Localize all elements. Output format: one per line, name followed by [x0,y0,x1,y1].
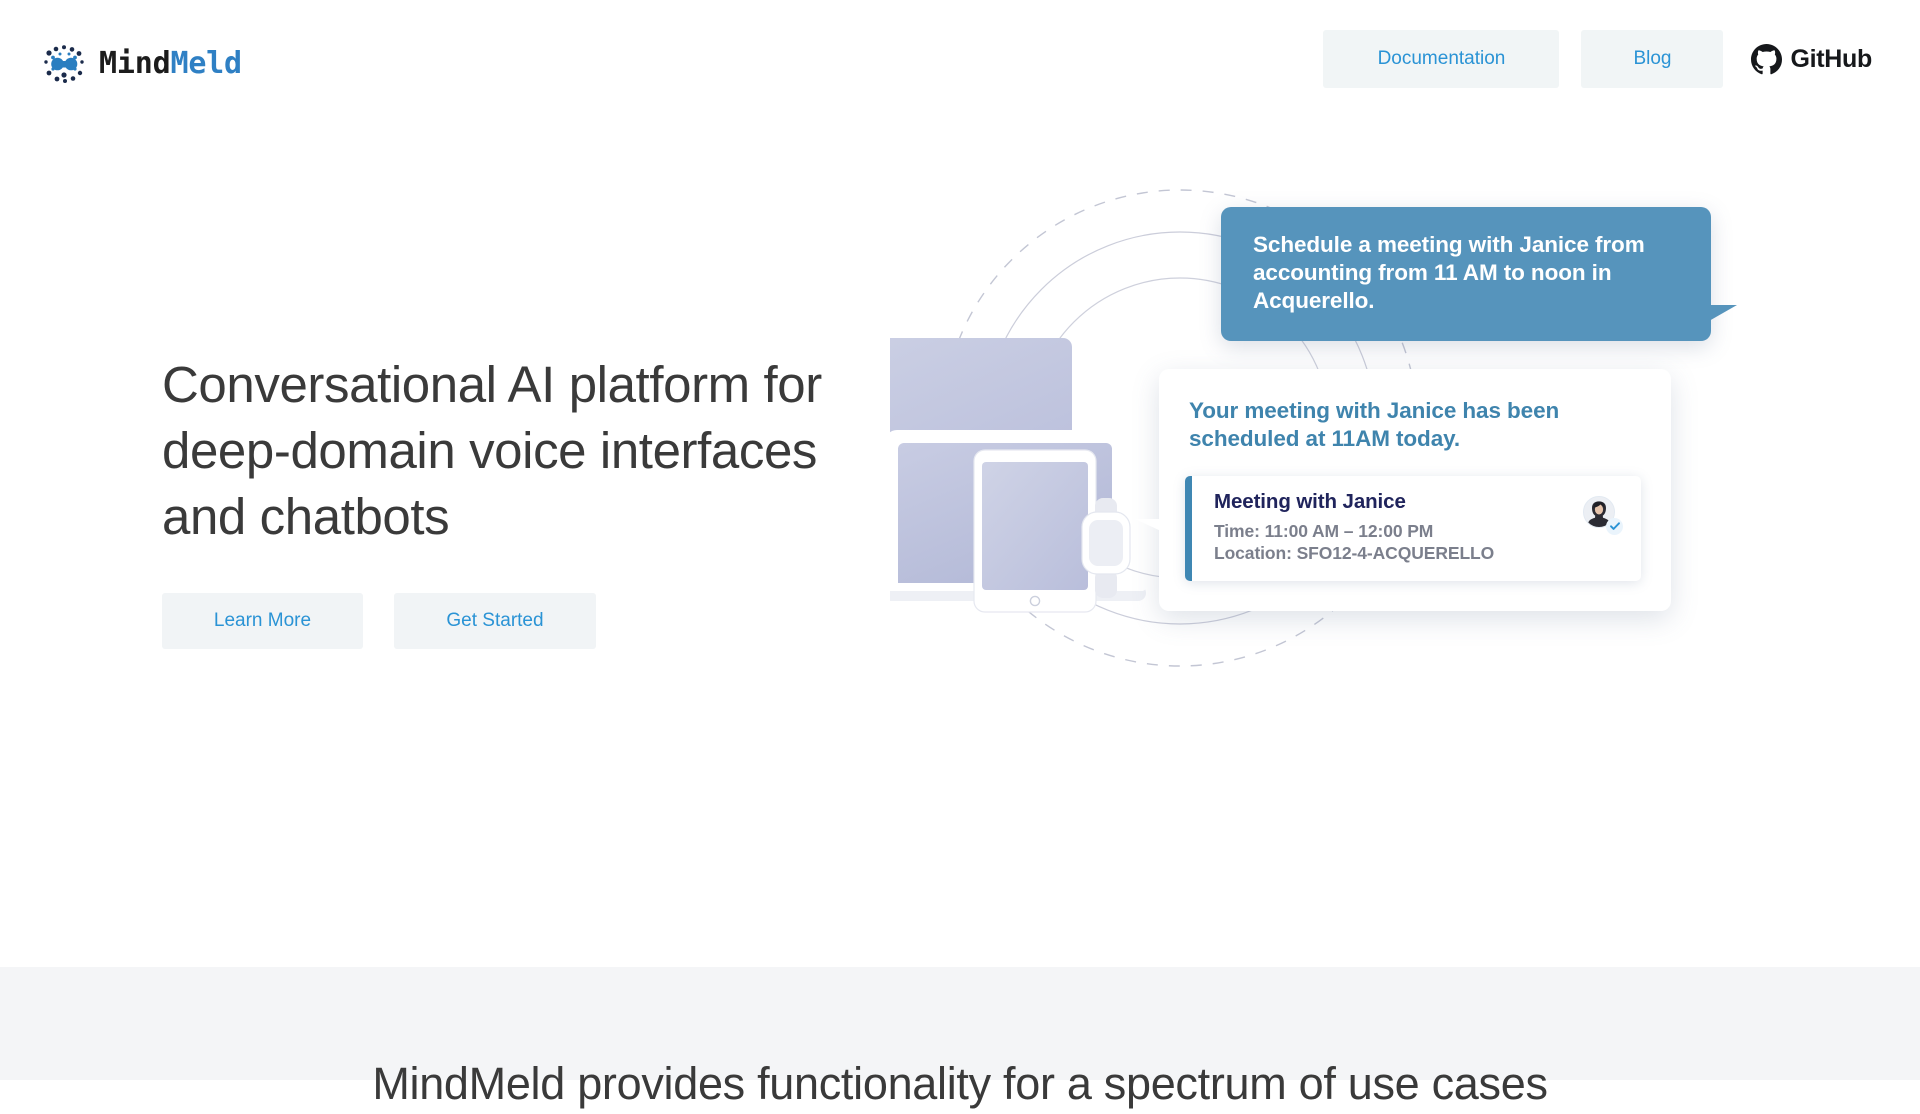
bubble-tail [1709,305,1737,335]
hero-copy: Conversational AI platform for deep-doma… [162,352,842,549]
features-heading: MindMeld provides functionality for a sp… [0,1055,1920,1114]
assistant-response-text: Your meeting with Janice has been schedu… [1185,397,1641,454]
user-message-bubble: Schedule a meeting with Janice from acco… [1221,207,1711,341]
meeting-info: Meeting with Janice Time: 11:00 AM – 12:… [1214,490,1583,565]
meeting-title: Meeting with Janice [1214,490,1583,514]
meeting-location: Location: SFO12-4-ACQUERELLO [1214,542,1583,565]
hero-section: Conversational AI platform for deep-doma… [0,0,1920,967]
page-title: Conversational AI platform for deep-doma… [162,352,842,549]
meeting-detail-card[interactable]: Meeting with Janice Time: 11:00 AM – 12:… [1185,476,1641,581]
assistant-response-card: Your meeting with Janice has been schedu… [1159,369,1671,611]
check-badge-icon [1606,518,1623,535]
user-message-text: Schedule a meeting with Janice from acco… [1253,232,1645,313]
learn-more-button[interactable]: Learn More [162,593,363,649]
hero-cta-row: Learn More Get Started [162,593,596,649]
avatar [1583,496,1619,532]
meeting-time: Time: 11:00 AM – 12:00 PM [1214,520,1583,543]
tablet [974,450,1096,612]
features-section: MindMeld provides functionality for a sp… [0,967,1920,1080]
get-started-button[interactable]: Get Started [394,593,596,649]
card-tail [1135,519,1161,547]
